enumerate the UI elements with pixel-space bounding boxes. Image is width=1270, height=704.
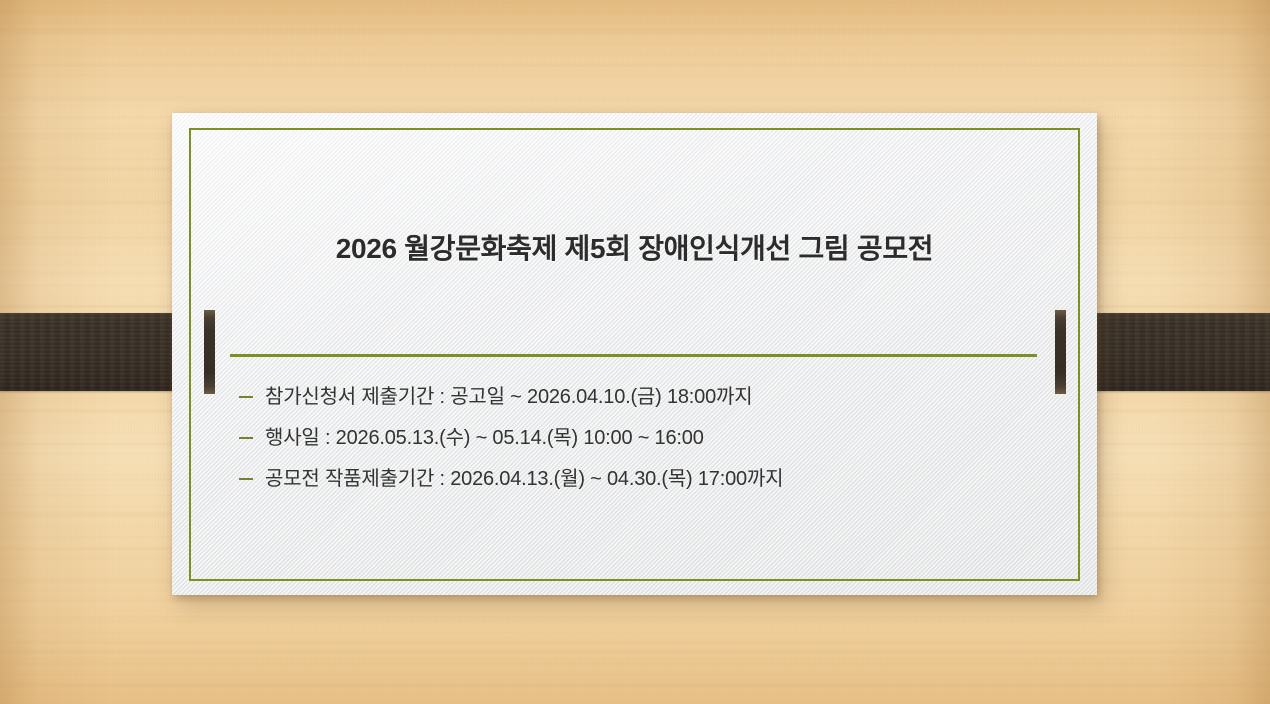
list-item: 참가신청서 제출기간 : 공고일 ~ 2026.04.10.(금) 18:00까… bbox=[230, 380, 1057, 421]
ribbon-end-cap-right bbox=[1055, 310, 1066, 394]
ribbon-end-cap-left bbox=[204, 310, 215, 394]
list-item: 행사일 : 2026.05.13.(수) ~ 05.14.(목) 10:00 ~… bbox=[230, 421, 1057, 462]
presentation-slide: 2026 월강문화축제 제5회 장애인식개선 그림 공모전 참가신청서 제출기간… bbox=[0, 0, 1270, 704]
page-title: 2026 월강문화축제 제5회 장애인식개선 그림 공모전 bbox=[230, 227, 1039, 267]
list-item-label: 공모전 작품제출기간 : 2026.04.13.(월) ~ 04.30.(목) … bbox=[265, 462, 783, 491]
slide-card: 2026 월강문화축제 제5회 장애인식개선 그림 공모전 참가신청서 제출기간… bbox=[172, 113, 1097, 595]
list-item-label: 참가신청서 제출기간 : 공고일 ~ 2026.04.10.(금) 18:00까… bbox=[265, 380, 752, 409]
list-item-label: 행사일 : 2026.05.13.(수) ~ 05.14.(목) 10:00 ~… bbox=[265, 421, 704, 450]
title-underline-rule bbox=[230, 354, 1037, 357]
list-item: 공모전 작품제출기간 : 2026.04.13.(월) ~ 04.30.(목) … bbox=[230, 462, 1057, 503]
bullet-list: 참가신청서 제출기간 : 공고일 ~ 2026.04.10.(금) 18:00까… bbox=[230, 380, 1057, 503]
slide-content: 2026 월강문화축제 제5회 장애인식개선 그림 공모전 참가신청서 제출기간… bbox=[172, 113, 1097, 595]
